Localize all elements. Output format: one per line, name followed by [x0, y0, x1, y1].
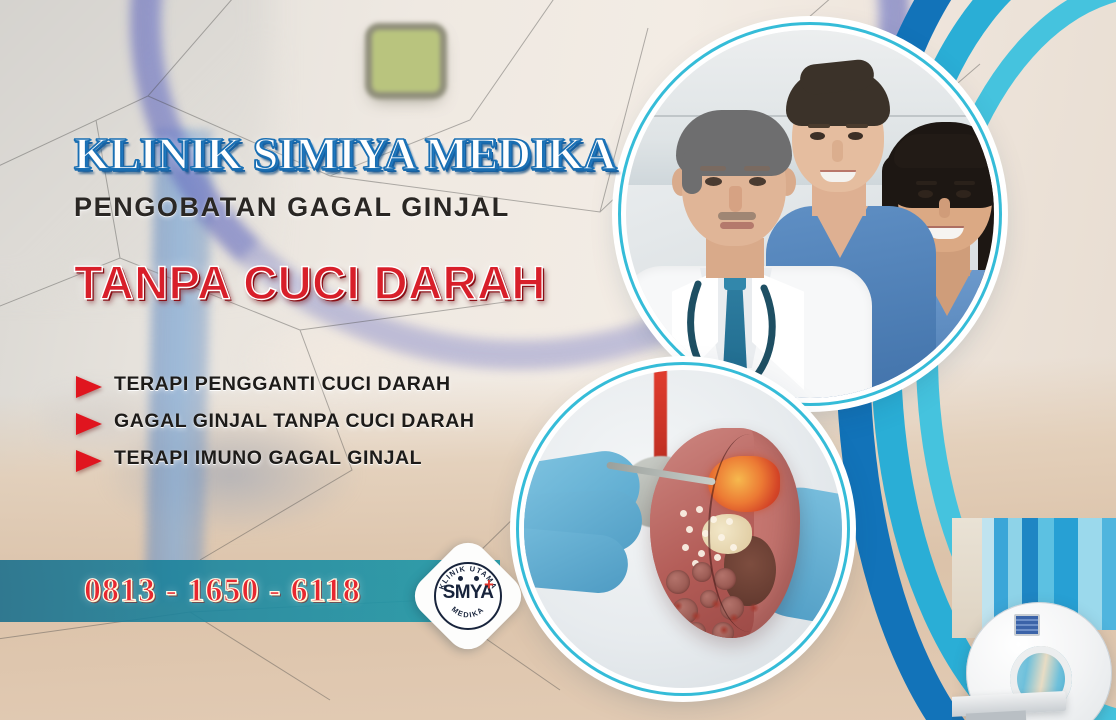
- kidney-model-photo-content: [524, 370, 842, 688]
- headline-block: KLINIK SIMIYA MEDIKA PENGOBATAN GAGAL GI…: [74, 132, 614, 310]
- brand-title: KLINIK SIMIYA MEDIKA: [74, 132, 625, 178]
- nurse-female-nose: [939, 198, 950, 218]
- smya-logo-badge: KLINIK UTAMA MEDIKA SMYA +: [424, 552, 512, 640]
- doctor-eye-right: [749, 177, 766, 186]
- nurse-male-eye-left: [810, 132, 825, 140]
- doctor-mouth: [720, 222, 754, 229]
- kidney-model-photo: [524, 370, 842, 688]
- list-item-label: TERAPI PENGGANTI CUCI DARAH: [114, 372, 451, 398]
- scanner-control-display: [1014, 614, 1040, 636]
- triangle-right-icon: [76, 376, 102, 398]
- list-item-label: TERAPI IMUNO GAGAL GINJAL: [114, 446, 422, 472]
- badge-wordmark: SMYA: [424, 582, 512, 604]
- nurse-male-eye-right: [848, 132, 863, 140]
- nurse-female-brow-left: [916, 181, 937, 185]
- svg-text:MEDIKA: MEDIKA: [450, 605, 486, 620]
- nurse-male-brow-left: [808, 124, 830, 128]
- triangle-right-icon: [76, 450, 102, 472]
- nurse-male-nose: [832, 140, 843, 162]
- nurse-male-hair: [786, 70, 890, 126]
- phone-number[interactable]: 0813 - 1650 - 6118: [84, 572, 361, 610]
- nurse-female-bangs: [894, 134, 990, 168]
- nurse-male-brow-right: [846, 124, 868, 128]
- doctor-hair: [676, 110, 792, 176]
- nurse-female-brow-right: [954, 181, 975, 185]
- service-list: TERAPI PENGGANTI CUCI DARAH GAGAL GINJAL…: [76, 372, 496, 483]
- list-item-label: GAGAL GINJAL TANPA CUCI DARAH: [114, 409, 474, 435]
- doctor-nose: [729, 186, 742, 212]
- list-item: TERAPI PENGGANTI CUCI DARAH: [76, 372, 496, 398]
- promo-banner: KLINIK SIMIYA MEDIKA PENGOBATAN GAGAL GI…: [0, 0, 1116, 720]
- badge-arc-bottom-text: MEDIKA: [450, 605, 486, 620]
- kidney-cross-section: [650, 428, 800, 638]
- kidney-capsule-outline: [708, 434, 792, 632]
- ct-scanner-image: [952, 518, 1116, 720]
- page-subtitle: PENGOBATAN GAGAL GINJAL: [74, 192, 614, 223]
- doctor-mustache: [718, 212, 756, 220]
- accent-headline: TANPA CUCI DARAH: [74, 255, 614, 310]
- medical-team-photo-content: [626, 30, 994, 398]
- plus-icon: +: [484, 578, 497, 591]
- doctor-brow-right: [744, 166, 770, 171]
- doctor-eye-left: [705, 177, 722, 186]
- medical-team-photo: [626, 30, 994, 398]
- doctor-brow-left: [700, 166, 726, 171]
- list-item: GAGAL GINJAL TANPA CUCI DARAH: [76, 409, 496, 435]
- list-item: TERAPI IMUNO GAGAL GINJAL: [76, 446, 496, 472]
- triangle-right-icon: [76, 413, 102, 435]
- nurse-female-eye-left: [918, 190, 933, 198]
- nurse-female-eye-right: [956, 190, 971, 198]
